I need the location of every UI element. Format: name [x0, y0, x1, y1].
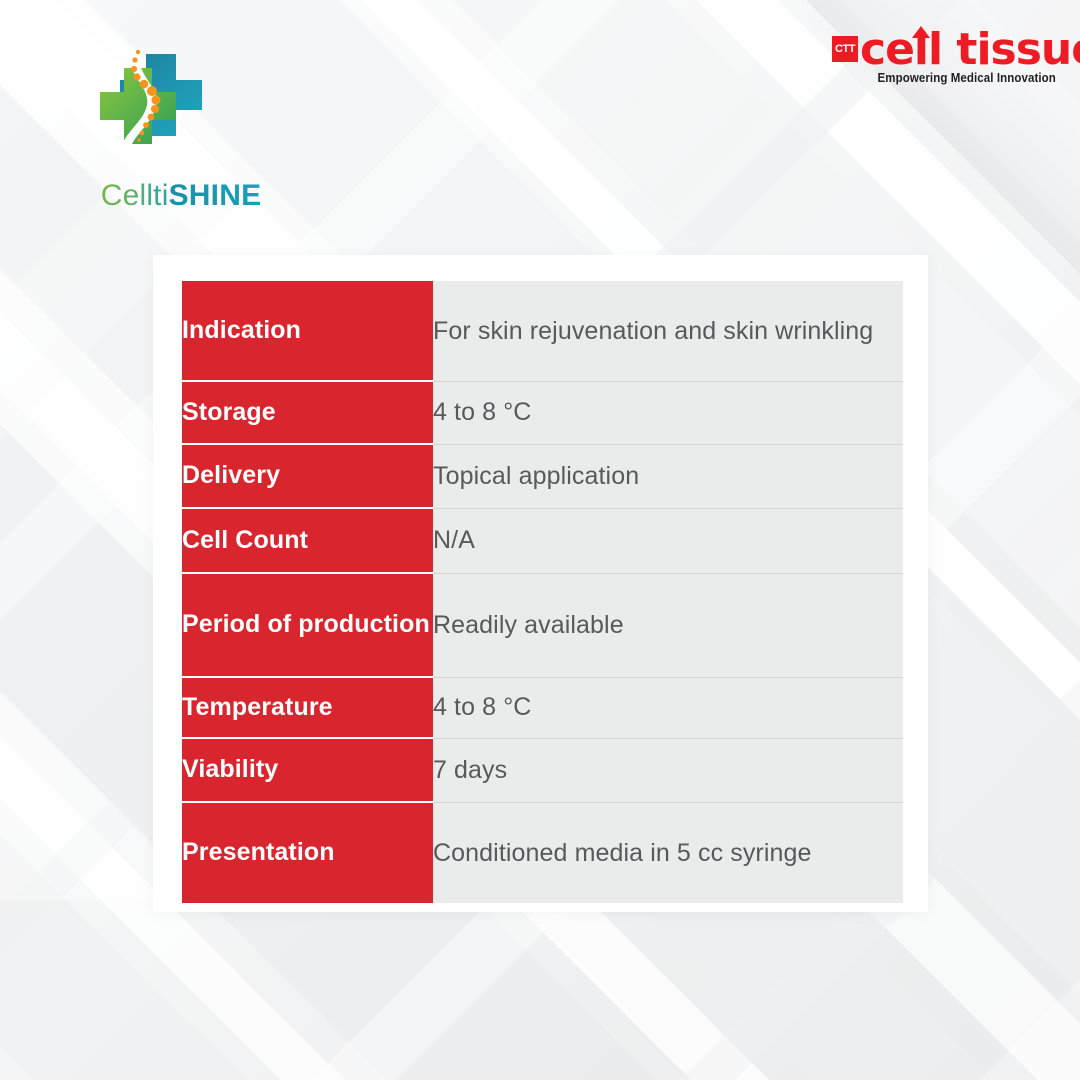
ctt-badge-label: CTT [835, 44, 855, 55]
spec-table-body: Indication For skin rejuvenation and ski… [182, 281, 903, 903]
table-row: Viability 7 days [182, 738, 903, 802]
spec-label-indication: Indication [182, 281, 433, 381]
spec-value-indication: For skin rejuvenation and skin wrinkling [433, 281, 903, 381]
cell-tissue-wordmark: cell tissue [860, 24, 1080, 76]
spec-label-delivery: Delivery [182, 444, 433, 508]
table-row: Period of production Readily available [182, 573, 903, 677]
table-row: Indication For skin rejuvenation and ski… [182, 281, 903, 381]
table-row: Delivery Topical application [182, 444, 903, 508]
cell-tissue-tagline: Empowering Medical Innovation [878, 71, 1056, 85]
cell-tissue-logo: CTT cell tissue Empowering Medical Innov… [832, 24, 1058, 84]
spec-value-delivery: Topical application [433, 444, 903, 508]
table-row: Cell Count N/A [182, 508, 903, 573]
table-row: Presentation Conditioned media in 5 cc s… [182, 802, 903, 903]
spec-value-storage: 4 to 8 °C [433, 381, 903, 444]
spec-label-period-of-production: Period of production [182, 573, 433, 677]
spec-label-presentation: Presentation [182, 802, 433, 903]
spec-label-temperature: Temperature [182, 677, 433, 738]
product-specification-table: Indication For skin rejuvenation and ski… [182, 281, 903, 903]
table-row: Temperature 4 to 8 °C [182, 677, 903, 738]
medical-cross-dna-icon [98, 48, 202, 144]
spec-value-presentation: Conditioned media in 5 cc syringe [433, 802, 903, 903]
spec-value-viability: 7 days [433, 738, 903, 802]
celltishine-logo: CelltiSHINE [66, 48, 296, 173]
spec-label-viability: Viability [182, 738, 433, 802]
table-row: Storage 4 to 8 °C [182, 381, 903, 444]
spec-value-cell-count: N/A [433, 508, 903, 573]
spec-value-period-of-production: Readily available [433, 573, 903, 677]
celltishine-name-light: Cellti [101, 179, 169, 212]
spec-label-cell-count: Cell Count [182, 508, 433, 573]
celltishine-name-bold: SHINE [169, 179, 262, 212]
spec-label-storage: Storage [182, 381, 433, 444]
spec-card: Indication For skin rejuvenation and ski… [153, 255, 928, 912]
spec-value-temperature: 4 to 8 °C [433, 677, 903, 738]
celltishine-wordmark: CelltiSHINE [66, 179, 296, 213]
ctt-badge-icon: CTT [832, 36, 858, 62]
